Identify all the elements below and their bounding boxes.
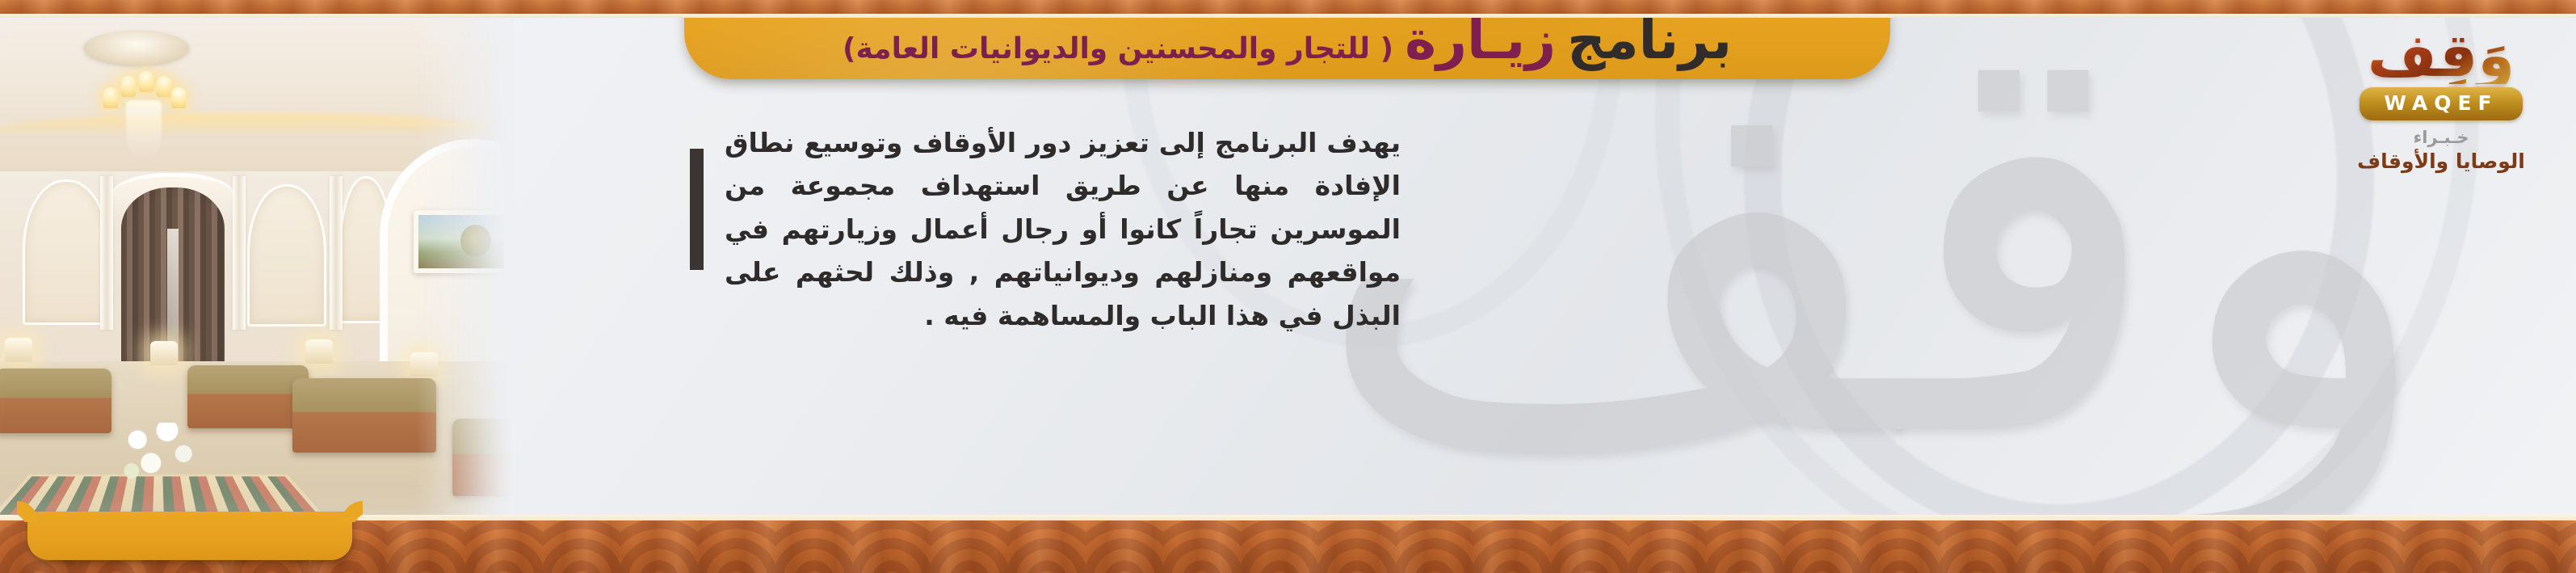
- bottom-accent-tab: [27, 512, 352, 560]
- body-copy-block: يهدف البرنامج إلى تعزيز دور الأوقاف وتوس…: [690, 121, 1401, 337]
- title-main-word: برنامج: [1567, 9, 1732, 71]
- bottom-band-pattern: [0, 520, 2576, 573]
- background-swirl-1: [1744, 0, 2374, 541]
- top-ornament-band: [0, 0, 2576, 18]
- bottom-ornament-band: [0, 515, 2576, 573]
- title-accent-word: زيـارة: [1405, 9, 1556, 71]
- majlis-interior-photo: [0, 18, 514, 515]
- waqef-program-banner: وقف: [0, 0, 2576, 573]
- waqef-tagline-bottom: الوصايا والأوقاف: [2357, 150, 2525, 173]
- photo-right-fade: [417, 18, 514, 515]
- waqef-tagline-top: خـبـراء: [2413, 128, 2469, 147]
- body-paragraph: يهدف البرنامج إلى تعزيز دور الأوقاف وتوس…: [725, 121, 1401, 337]
- accent-bar: [690, 149, 704, 270]
- waqef-arabic-wordmark: وَقِف: [2368, 27, 2515, 84]
- title-subtitle: ( للتجار والمحسنين والديوانيات العامة): [843, 32, 1393, 65]
- waqef-latin-name: WAQEF: [2360, 87, 2522, 120]
- waqef-logo[interactable]: وَقِف WAQEF خـبـراء الوصايا والأوقاف: [2340, 27, 2542, 173]
- title-line: برنامج زيـارة ( للتجار والمحسنين والديوا…: [843, 9, 1732, 71]
